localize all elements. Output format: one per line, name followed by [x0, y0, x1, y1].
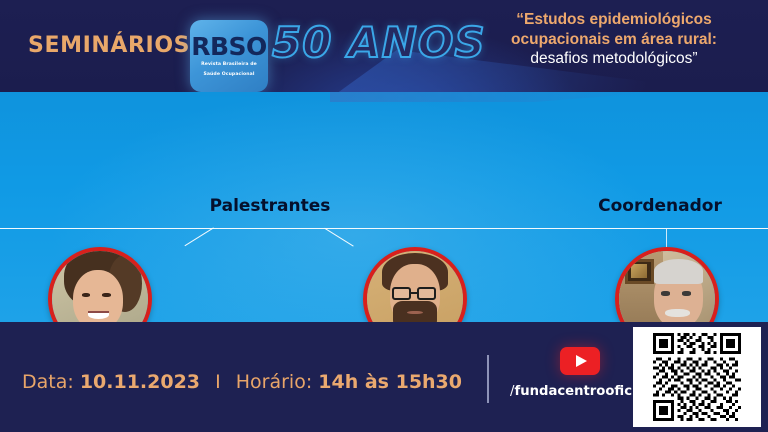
youtube-handle-text: fundacentrooficial — [514, 384, 649, 399]
avatar — [48, 247, 152, 322]
poster-body: Palestrantes Coordenador Neice Müller Xa… — [0, 92, 768, 322]
person-card: Neice Müller Xavier Faria (Médica Epidem… — [0, 247, 205, 322]
coordinator-heading: Coordenador — [560, 196, 760, 216]
person-card: Rodrigo Dalke Meucci (Fisioterapeuta Epi… — [310, 247, 520, 322]
time-label: Horário: — [236, 371, 312, 393]
youtube-play-icon[interactable] — [560, 347, 600, 375]
page-title: “Estudos epidemiológicos ocupacionais em… — [468, 10, 760, 69]
title-line-3: desafios metodológicos” — [468, 49, 760, 69]
rbso-subtitle-line2: Saúde Ocupacional — [203, 72, 254, 79]
title-line-1: “Estudos epidemiológicos — [468, 10, 760, 30]
seminar-poster: SEMINÁRIOS RBSO Revista Brasileira de Sa… — [0, 0, 768, 432]
seminarios-label: SEMINÁRIOS — [28, 33, 190, 58]
bracket-horizontal-line — [0, 228, 768, 229]
avatar — [615, 247, 719, 322]
portrait-photo — [619, 251, 715, 322]
portrait-photo — [367, 251, 463, 322]
speakers-heading: Palestrantes — [150, 196, 390, 216]
date-label: Data: — [22, 371, 74, 393]
date-value: 10.11.2023 — [80, 371, 200, 393]
title-line-2: ocupacionais em área rural: — [468, 30, 760, 50]
rbso-acronym: RBSO — [191, 34, 267, 59]
anniversary-badge: 50 ANOS — [272, 18, 486, 67]
qr-code[interactable] — [639, 333, 755, 421]
footer-divider — [487, 355, 489, 403]
rbso-logo: RBSO Revista Brasileira de Saúde Ocupaci… — [190, 20, 268, 92]
poster-header: SEMINÁRIOS RBSO Revista Brasileira de Sa… — [0, 0, 768, 92]
time-value: 14h às 15h30 — [318, 371, 462, 393]
qr-code-panel[interactable] — [633, 327, 761, 427]
portrait-photo — [52, 251, 148, 322]
person-card: Eduardo Algranti (Pesquisador da Fundace… — [562, 247, 768, 322]
datetime-separator: I — [206, 371, 230, 393]
avatar — [363, 247, 467, 322]
event-datetime: Data: 10.11.2023 I Horário: 14h às 15h30 — [22, 371, 462, 393]
rbso-subtitle-line1: Revista Brasileira de — [201, 62, 257, 69]
